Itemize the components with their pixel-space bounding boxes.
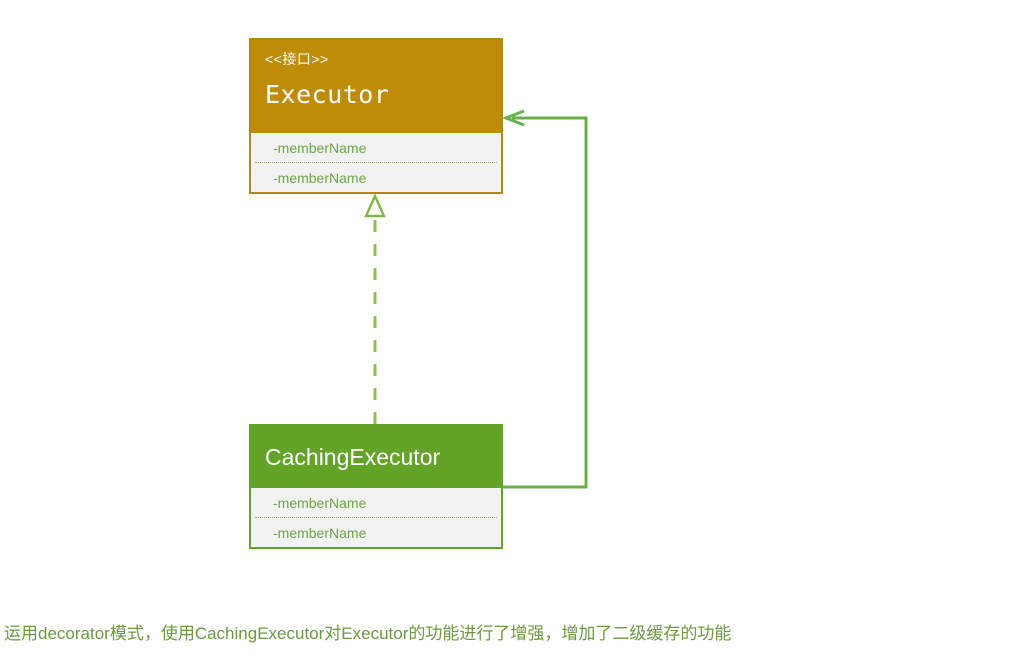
connector-layer <box>0 0 1022 670</box>
uml-class-executor[interactable]: <<接口>> Executor -memberName -memberName <box>249 38 503 194</box>
uml-member-row: -memberName <box>251 488 501 517</box>
uml-class-executor-header: <<接口>> Executor <box>251 40 501 133</box>
uml-class-cachingexecutor[interactable]: CachingExecutor -memberName -memberName <box>249 424 503 549</box>
diagram-caption: 运用decorator模式，使用CachingExecutor对Executor… <box>4 622 731 646</box>
association-connector <box>503 111 586 487</box>
uml-class-executor-members: -memberName -memberName <box>251 133 501 192</box>
realization-connector <box>366 196 384 424</box>
uml-class-cachingexecutor-members: -memberName -memberName <box>251 488 501 547</box>
uml-class-executor-name: Executor <box>265 82 501 107</box>
uml-class-cachingexecutor-name: CachingExecutor <box>265 446 440 469</box>
uml-member-row: -memberName <box>251 133 501 162</box>
uml-class-diagram: <<接口>> Executor -memberName -memberName … <box>0 0 1022 670</box>
association-line <box>503 118 586 487</box>
uml-class-executor-stereotype: <<接口>> <box>265 52 501 66</box>
uml-member-row: -memberName <box>251 163 501 192</box>
uml-class-cachingexecutor-header: CachingExecutor <box>251 426 501 488</box>
uml-member-row: -memberName <box>251 518 501 547</box>
hollow-triangle-arrowhead-icon <box>366 196 384 216</box>
